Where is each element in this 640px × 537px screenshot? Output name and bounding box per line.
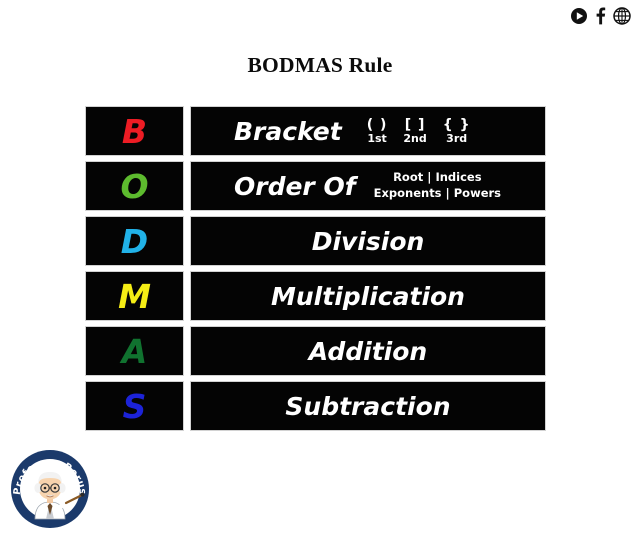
bracket-symbol: ( ): [367, 118, 388, 132]
operation-cell-subtraction: Subtraction: [190, 381, 546, 431]
bracket-order: 2nd: [403, 133, 426, 144]
table-row: A Addition: [85, 326, 546, 376]
letter-cell-b: B: [85, 106, 184, 156]
table-row: M Multiplication: [85, 271, 546, 321]
bracket-item: ( ) 1st: [367, 118, 388, 144]
bodmas-table: B Bracket ( ) 1st [ ] 2nd { } 3rd: [85, 106, 546, 431]
operation-label: Division: [312, 229, 425, 254]
operation-label: Subtraction: [285, 394, 450, 419]
letter-cell-a: A: [85, 326, 184, 376]
letter-glyph: B: [122, 115, 147, 148]
operation-cell-order-of: Order Of Root | Indices Exponents | Powe…: [190, 161, 546, 211]
order-note-line-2: Exponents | Powers: [374, 186, 501, 202]
operation-cell-division: Division: [190, 216, 546, 266]
bracket-item: [ ] 2nd: [403, 118, 426, 144]
table-row: D Division: [85, 216, 546, 266]
letter-cell-s: S: [85, 381, 184, 431]
table-row: B Bracket ( ) 1st [ ] 2nd { } 3rd: [85, 106, 546, 156]
professor-porus-logo: Professor Porus: [8, 447, 92, 531]
operation-cell-multiplication: Multiplication: [190, 271, 546, 321]
page-title: BODMAS Rule: [0, 53, 640, 78]
bracket-precedence-note: ( ) 1st [ ] 2nd { } 3rd: [367, 118, 471, 144]
letter-cell-m: M: [85, 271, 184, 321]
letter-cell-d: D: [85, 216, 184, 266]
globe-icon[interactable]: [613, 7, 631, 25]
table-row: O Order Of Root | Indices Exponents | Po…: [85, 161, 546, 211]
letter-cell-o: O: [85, 161, 184, 211]
bracket-order: 1st: [367, 133, 388, 144]
order-of-note: Root | Indices Exponents | Powers: [374, 170, 501, 201]
social-icon-bar: [570, 7, 631, 25]
bracket-symbol: { }: [443, 118, 471, 132]
play-circle-icon[interactable]: [570, 7, 588, 25]
operation-cell-bracket: Bracket ( ) 1st [ ] 2nd { } 3rd: [190, 106, 546, 156]
letter-glyph: O: [120, 170, 148, 203]
bracket-item: { } 3rd: [443, 118, 471, 144]
operation-label: Addition: [309, 339, 427, 364]
table-row: S Subtraction: [85, 381, 546, 431]
letter-glyph: S: [123, 390, 147, 423]
order-note-line-1: Root | Indices: [374, 170, 501, 186]
operation-cell-addition: Addition: [190, 326, 546, 376]
letter-glyph: D: [121, 225, 148, 258]
letter-glyph: A: [122, 335, 148, 368]
operation-label: Multiplication: [271, 284, 465, 309]
operation-label: Order Of: [234, 174, 356, 199]
facebook-f-icon[interactable]: [595, 7, 606, 25]
operation-label: Bracket: [234, 119, 342, 144]
bracket-order: 3rd: [443, 133, 471, 144]
letter-glyph: M: [118, 280, 151, 313]
bracket-symbol: [ ]: [403, 118, 426, 132]
